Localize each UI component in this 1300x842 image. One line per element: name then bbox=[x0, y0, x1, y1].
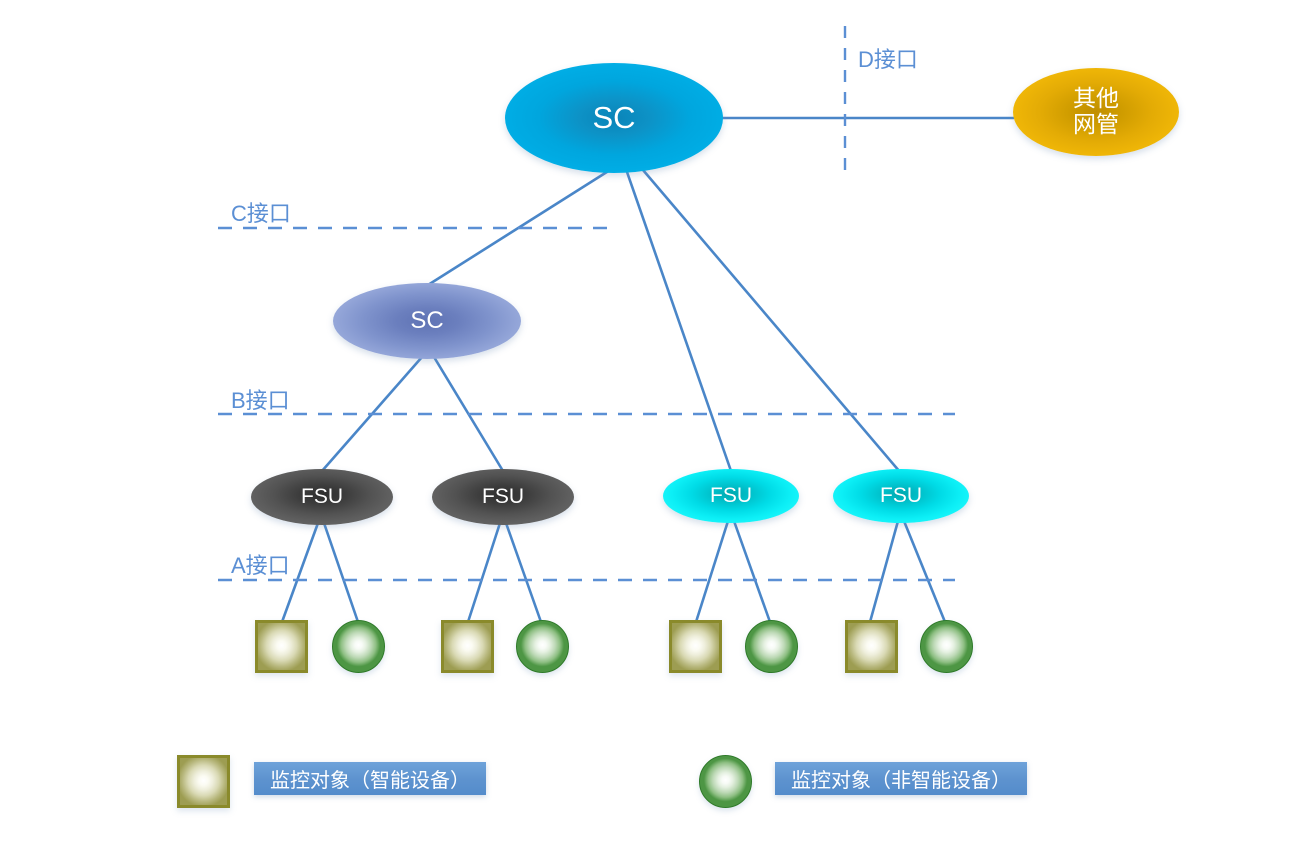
edge-fsu-4-to-device-7 bbox=[870, 521, 898, 622]
node-other-nms-label: 其他 网管 bbox=[1073, 86, 1119, 138]
legend-icon-circle bbox=[699, 755, 752, 808]
edge-fsu-2-to-device-3 bbox=[468, 523, 500, 622]
edge-fsu-2-to-device-4 bbox=[506, 523, 541, 622]
node-other-nms-line2: 网管 bbox=[1073, 111, 1119, 137]
node-fsu-3[interactable]: FSU bbox=[663, 469, 799, 523]
node-fsu-2-label: FSU bbox=[482, 485, 524, 509]
device-circle-2[interactable] bbox=[516, 620, 569, 673]
node-fsu-2[interactable]: FSU bbox=[432, 469, 574, 525]
device-circle-4[interactable] bbox=[920, 620, 973, 673]
node-fsu-1-label: FSU bbox=[301, 485, 343, 509]
edge-sc-top-to-fsu-4 bbox=[643, 170, 900, 472]
device-circle-1[interactable] bbox=[332, 620, 385, 673]
device-square-4[interactable] bbox=[845, 620, 898, 673]
interface-label-c: C接口 bbox=[231, 196, 291, 228]
node-fsu-3-label: FSU bbox=[710, 484, 752, 508]
node-other-nms-line1: 其他 bbox=[1073, 85, 1119, 111]
device-square-3[interactable] bbox=[669, 620, 722, 673]
edge-fsu-1-to-device-2 bbox=[324, 523, 358, 622]
node-other-nms[interactable]: 其他 网管 bbox=[1013, 68, 1179, 156]
interface-label-b: B接口 bbox=[231, 383, 290, 415]
node-sc-mid-label: SC bbox=[410, 308, 443, 335]
legend-label-non-intelligent: 监控对象（非智能设备） bbox=[775, 762, 1027, 795]
edge-sc-top-to-fsu-3 bbox=[627, 172, 731, 471]
edge-fsu-3-to-device-5 bbox=[696, 521, 728, 622]
device-square-2[interactable] bbox=[441, 620, 494, 673]
device-circle-3[interactable] bbox=[745, 620, 798, 673]
legend-icon-square bbox=[177, 755, 230, 808]
node-sc-top-label: SC bbox=[592, 101, 635, 136]
diagram-canvas: SC SC 其他 网管 FSU FSU FSU FSU D接口 C接口 B接口 … bbox=[0, 0, 1300, 842]
interface-label-a: A接口 bbox=[231, 548, 290, 580]
node-fsu-4[interactable]: FSU bbox=[833, 469, 969, 523]
edge-fsu-4-to-device-8 bbox=[904, 521, 945, 622]
device-square-1[interactable] bbox=[255, 620, 308, 673]
edge-fsu-3-to-device-6 bbox=[734, 521, 770, 622]
legend-label-intelligent: 监控对象（智能设备） bbox=[254, 762, 486, 795]
node-sc-mid[interactable]: SC bbox=[333, 283, 521, 359]
node-sc-top[interactable]: SC bbox=[505, 63, 723, 173]
node-fsu-4-label: FSU bbox=[880, 484, 922, 508]
interface-label-d: D接口 bbox=[858, 42, 918, 74]
node-fsu-1[interactable]: FSU bbox=[251, 469, 393, 525]
